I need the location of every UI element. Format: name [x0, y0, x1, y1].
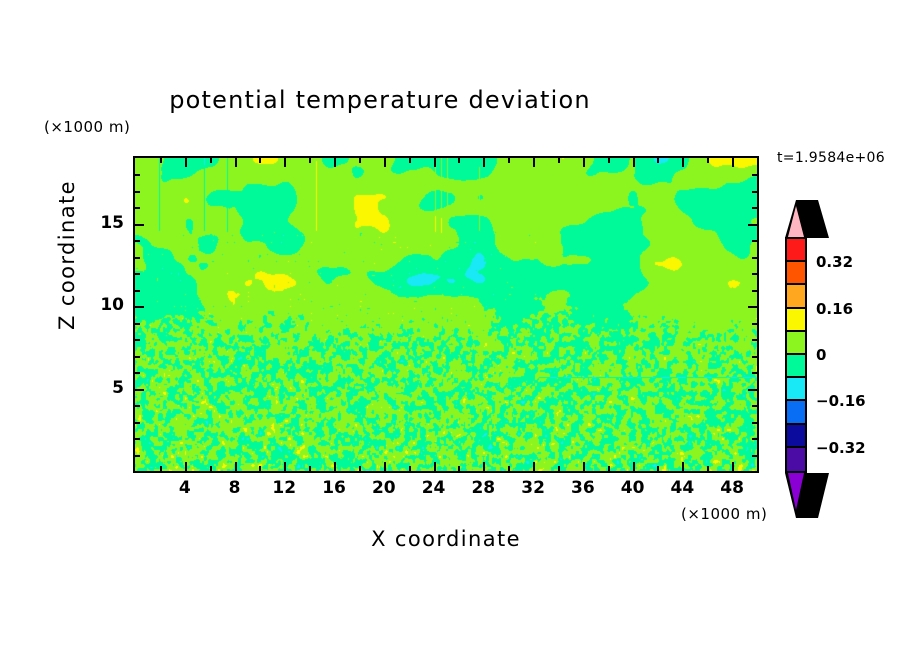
- y-tick: [135, 422, 140, 424]
- y-tick: [135, 389, 144, 391]
- colorbar-band: [787, 401, 805, 424]
- colorbar-band: [787, 309, 805, 332]
- x-tick: [707, 158, 709, 163]
- x-axis-title: X coordinate: [133, 527, 759, 551]
- x-tick-label: 16: [314, 478, 354, 498]
- colorbar-band: [787, 448, 805, 471]
- x-tick: [458, 158, 460, 163]
- colorbar-tick-label: 0: [816, 346, 826, 364]
- y-tick: [135, 257, 140, 259]
- x-tick: [608, 158, 610, 163]
- z-axis-units-label: (×1000 m): [44, 118, 130, 136]
- x-tick: [284, 158, 286, 167]
- y-tick: [752, 240, 757, 242]
- y-tick: [752, 290, 757, 292]
- y-tick: [135, 372, 140, 374]
- y-tick: [135, 356, 140, 358]
- y-tick: [752, 405, 757, 407]
- x-tick: [309, 158, 311, 163]
- x-tick-label: 24: [414, 478, 454, 498]
- colorbar-over-arrow-fill: [788, 206, 804, 237]
- x-tick-label: 32: [513, 478, 553, 498]
- y-tick: [752, 273, 757, 275]
- contour-field: [135, 158, 757, 471]
- x-tick: [583, 462, 585, 471]
- x-tick: [384, 158, 386, 167]
- y-tick: [752, 207, 757, 209]
- x-tick-label: 28: [463, 478, 503, 498]
- x-tick: [259, 158, 261, 163]
- y-tick: [752, 339, 757, 341]
- plot-area: [133, 156, 759, 473]
- x-tick: [483, 158, 485, 167]
- x-tick: [235, 462, 237, 471]
- y-tick: [752, 372, 757, 374]
- x-tick: [608, 466, 610, 471]
- y-tick: [752, 257, 757, 259]
- x-tick: [707, 466, 709, 471]
- x-tick: [558, 158, 560, 163]
- x-tick-label: 4: [165, 478, 205, 498]
- x-tick: [633, 462, 635, 471]
- y-tick-label: 5: [86, 378, 124, 398]
- x-tick: [533, 158, 535, 167]
- colorbar-tick-label: −0.32: [816, 439, 866, 457]
- y-tick: [135, 339, 140, 341]
- x-tick: [185, 462, 187, 471]
- y-tick: [135, 323, 140, 325]
- x-tick: [732, 158, 734, 167]
- y-tick: [752, 422, 757, 424]
- x-tick: [210, 466, 212, 471]
- colorbar-band: [787, 355, 805, 378]
- x-tick: [657, 466, 659, 471]
- y-tick: [135, 191, 140, 193]
- x-tick: [160, 158, 162, 163]
- x-tick: [558, 466, 560, 471]
- colorbar-tick-label: 0.16: [816, 300, 853, 318]
- colorbar-band: [787, 378, 805, 401]
- x-tick-label: 20: [364, 478, 404, 498]
- x-axis-units-label: (×1000 m): [681, 505, 767, 523]
- x-tick: [633, 158, 635, 167]
- x-tick: [284, 462, 286, 471]
- x-tick: [508, 158, 510, 163]
- y-tick: [135, 306, 144, 308]
- y-tick: [752, 191, 757, 193]
- x-tick: [359, 158, 361, 163]
- x-tick: [682, 158, 684, 167]
- x-tick: [384, 462, 386, 471]
- colorbar-band: [787, 332, 805, 355]
- x-tick: [583, 158, 585, 167]
- x-tick: [682, 462, 684, 471]
- x-tick-label: 44: [662, 478, 702, 498]
- colorbar-tick-label: −0.16: [816, 392, 866, 410]
- y-tick: [752, 455, 757, 457]
- y-tick: [748, 306, 757, 308]
- x-tick: [483, 462, 485, 471]
- y-axis-title: Z coordinate: [55, 155, 79, 355]
- x-tick: [259, 466, 261, 471]
- x-tick: [309, 466, 311, 471]
- y-tick: [135, 290, 140, 292]
- y-tick: [752, 356, 757, 358]
- y-tick: [748, 389, 757, 391]
- y-tick: [135, 174, 140, 176]
- y-tick: [752, 438, 757, 440]
- x-tick: [434, 462, 436, 471]
- x-tick: [185, 158, 187, 167]
- x-tick: [657, 158, 659, 163]
- x-tick: [409, 466, 411, 471]
- colorbar-tick-label: 0.32: [816, 253, 853, 271]
- x-tick: [210, 158, 212, 163]
- y-tick: [135, 405, 140, 407]
- x-tick: [732, 462, 734, 471]
- x-tick: [359, 466, 361, 471]
- colorbar: [785, 237, 807, 473]
- colorbar-band: [787, 285, 805, 308]
- x-tick: [508, 466, 510, 471]
- x-tick: [235, 158, 237, 167]
- x-tick: [458, 466, 460, 471]
- figure-canvas: potential temperature deviation (×1000 m…: [0, 0, 904, 654]
- x-tick-label: 36: [563, 478, 603, 498]
- colorbar-band: [787, 239, 805, 262]
- x-tick: [334, 462, 336, 471]
- page-title: potential temperature deviation: [0, 86, 760, 114]
- y-tick: [752, 174, 757, 176]
- colorbar-under-arrow-fill: [788, 473, 804, 510]
- y-tick-label: 10: [86, 295, 124, 315]
- y-tick: [135, 438, 140, 440]
- x-tick: [533, 462, 535, 471]
- x-tick-label: 40: [613, 478, 653, 498]
- y-tick: [748, 224, 757, 226]
- x-tick: [160, 466, 162, 471]
- x-tick: [334, 158, 336, 167]
- y-tick: [752, 323, 757, 325]
- x-tick-label: 48: [712, 478, 752, 498]
- colorbar-band: [787, 425, 805, 448]
- y-tick: [135, 207, 140, 209]
- colorbar-band: [787, 262, 805, 285]
- y-tick: [135, 224, 144, 226]
- x-tick-label: 8: [215, 478, 255, 498]
- x-tick: [434, 158, 436, 167]
- y-tick: [135, 455, 140, 457]
- y-tick: [135, 273, 140, 275]
- x-tick-label: 12: [264, 478, 304, 498]
- x-tick: [409, 158, 411, 163]
- y-tick: [135, 240, 140, 242]
- timestamp-annotation: t=1.9584e+06: [777, 150, 885, 166]
- y-tick-label: 15: [86, 213, 124, 233]
